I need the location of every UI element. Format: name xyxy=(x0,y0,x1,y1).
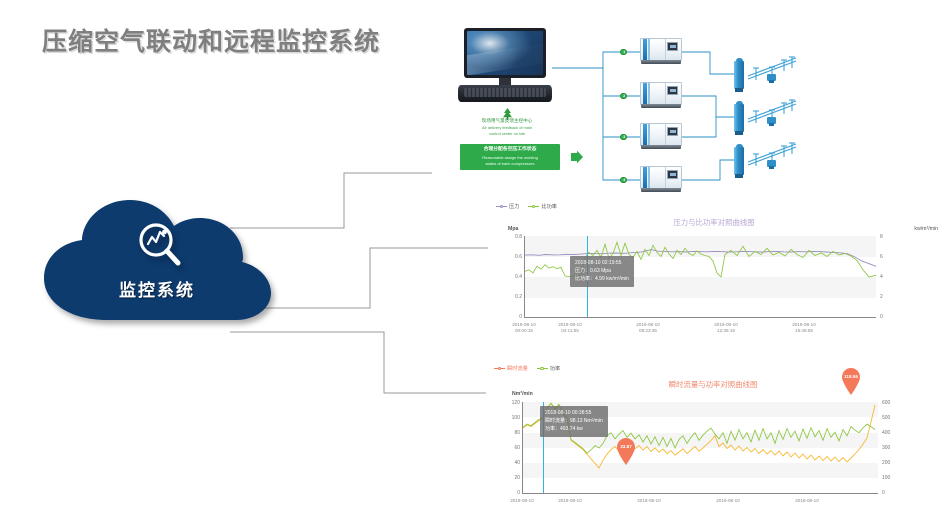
flow-ytick-r-5: 100 xyxy=(882,475,912,481)
pipe-network-1 xyxy=(746,54,798,90)
pressure-chart-legend[interactable]: 压力 比功率 xyxy=(496,203,557,210)
pipe-network-2 xyxy=(746,97,798,133)
pressure-ytick-r-1: 6 xyxy=(880,254,906,260)
slide-canvas: 压缩空气联动和远程监控系统 监控系统 xyxy=(0,0,945,529)
monitoring-cloud[interactable]: 监控系统 xyxy=(28,192,286,327)
flow-xtick-1: 2018-08-10 xyxy=(538,498,602,504)
flow-y-left-unit: Nm³/min xyxy=(512,391,533,397)
pressure-y-left-unit: Mpa xyxy=(508,226,518,232)
node-dot-4: 4 xyxy=(620,177,627,184)
flow-ytick-r-4: 200 xyxy=(882,460,912,466)
legend-item-pressure[interactable]: 压力 xyxy=(496,203,519,210)
pipe-network-3 xyxy=(746,140,798,176)
compressor-1 xyxy=(640,38,682,65)
flow-ytick-r-6: 0 xyxy=(882,490,912,496)
pressure-xtick-4: 2018-08-1016:46:55 xyxy=(772,322,836,334)
flow-ytick-r-0: 600 xyxy=(882,400,912,406)
node-dot-2: 2 xyxy=(620,93,627,100)
pressure-ytick-l-3: 0.2 xyxy=(496,294,522,300)
air-tank-2 xyxy=(734,101,744,135)
system-topology-diagram: 现场用气量反馈主控中心 Air delivery feedback of mai… xyxy=(448,22,940,202)
flow-xtick-4: 2018-08-10 xyxy=(775,498,839,504)
flow-ytick-l-1: 100 xyxy=(492,415,520,421)
min-marker-value: 33.87 xyxy=(616,444,636,449)
flow-chart-legend[interactable]: 瞬时流量 功率 xyxy=(494,365,560,372)
pressure-y-right-unit: kw/m³/min xyxy=(914,226,938,232)
pressure-ytick-r-2: 4 xyxy=(880,274,906,280)
magnifier-chart-icon xyxy=(132,218,188,274)
pressure-tooltip-timestamp: 2018-08-10 02:19:55 xyxy=(575,259,629,267)
flow-xtick-3: 2018-08-10 xyxy=(696,498,760,504)
node-dot-1: 1 xyxy=(620,49,627,56)
pressure-ytick-r-0: 8 xyxy=(880,234,906,240)
max-marker-value: 118.55 xyxy=(841,374,861,379)
compressor-3 xyxy=(640,123,682,150)
pressure-tooltip-line1: 压力：0.63 Mpa xyxy=(575,267,629,275)
legend-marker-instant-flow xyxy=(494,366,505,371)
flow-tooltip: 2018-08-10 00:38:55 瞬时流量：98.13 Nm³/min 功… xyxy=(540,406,608,437)
flow-ytick-l-0: 120 xyxy=(492,400,520,406)
pressure-chart: 压力 比功率 压力与比功率对照曲线图 Mpa kw/m³/min 0.8 0.6… xyxy=(488,200,940,335)
pressure-chart-title: 压力与比功率对照曲线图 xyxy=(488,217,940,228)
pressure-ytick-r-4: 0 xyxy=(880,314,906,320)
pressure-ytick-r-3: 2 xyxy=(880,294,906,300)
flow-tooltip-line2: 功率：493.74 kw xyxy=(545,425,603,433)
flow-ytick-r-1: 500 xyxy=(882,415,912,421)
pressure-xtick-1: 2018-08-1004:11:55 xyxy=(538,322,602,334)
flow-ytick-l-3: 60 xyxy=(492,445,520,451)
pressure-ytick-l-1: 0.6 xyxy=(496,254,522,260)
legend-marker-pressure xyxy=(496,204,507,209)
diagram-wiring xyxy=(448,22,940,202)
flow-xtick-2: 2018-08-10 xyxy=(617,498,681,504)
flow-ytick-l-2: 80 xyxy=(492,430,520,436)
flow-tooltip-timestamp: 2018-08-10 00:38:55 xyxy=(545,409,603,417)
max-marker-pin[interactable]: 118.55 xyxy=(841,368,861,395)
compressor-2 xyxy=(640,82,682,109)
pressure-ytick-l-0: 0.8 xyxy=(496,234,522,240)
flow-ytick-r-2: 400 xyxy=(882,430,912,436)
legend-item-power[interactable]: 功率 xyxy=(537,365,560,372)
legend-item-instant-flow[interactable]: 瞬时流量 xyxy=(494,365,528,372)
flow-chart-title: 瞬时流量与功率对照曲线图 xyxy=(486,379,940,390)
air-tank-1 xyxy=(734,58,744,92)
pressure-tooltip: 2018-08-10 02:19:55 压力：0.63 Mpa 比功率：4.99… xyxy=(570,256,634,287)
pressure-xtick-3: 2018-08-1012:35:15 xyxy=(694,322,758,334)
pressure-xtick-2: 2018-08-1008:23:35 xyxy=(616,322,680,334)
flow-ytick-l-5: 20 xyxy=(492,475,520,481)
flow-ytick-r-3: 300 xyxy=(882,445,912,451)
flow-ytick-l-6: 0 xyxy=(492,490,520,496)
pressure-tooltip-line2: 比功率：4.99 kw/m³/min xyxy=(575,275,629,283)
legend-item-specific-power[interactable]: 比功率 xyxy=(528,203,557,210)
pressure-ytick-l-4: 0 xyxy=(496,314,522,320)
node-dot-3: 3 xyxy=(620,134,627,141)
flow-chart: 瞬时流量 功率 瞬时流量与功率对照曲线图 Nm³/min 120 100 80 … xyxy=(486,362,940,529)
page-title: 压缩空气联动和远程监控系统 xyxy=(42,22,380,58)
legend-marker-power xyxy=(537,366,548,371)
compressor-4 xyxy=(640,166,682,193)
min-marker-pin[interactable]: 33.87 xyxy=(616,438,636,465)
pressure-ytick-l-2: 0.4 xyxy=(496,274,522,280)
air-tank-3 xyxy=(734,144,744,178)
flow-ytick-l-4: 40 xyxy=(492,460,520,466)
flow-tooltip-line1: 瞬时流量：98.13 Nm³/min xyxy=(545,417,603,425)
legend-marker-specific-power xyxy=(528,204,539,209)
